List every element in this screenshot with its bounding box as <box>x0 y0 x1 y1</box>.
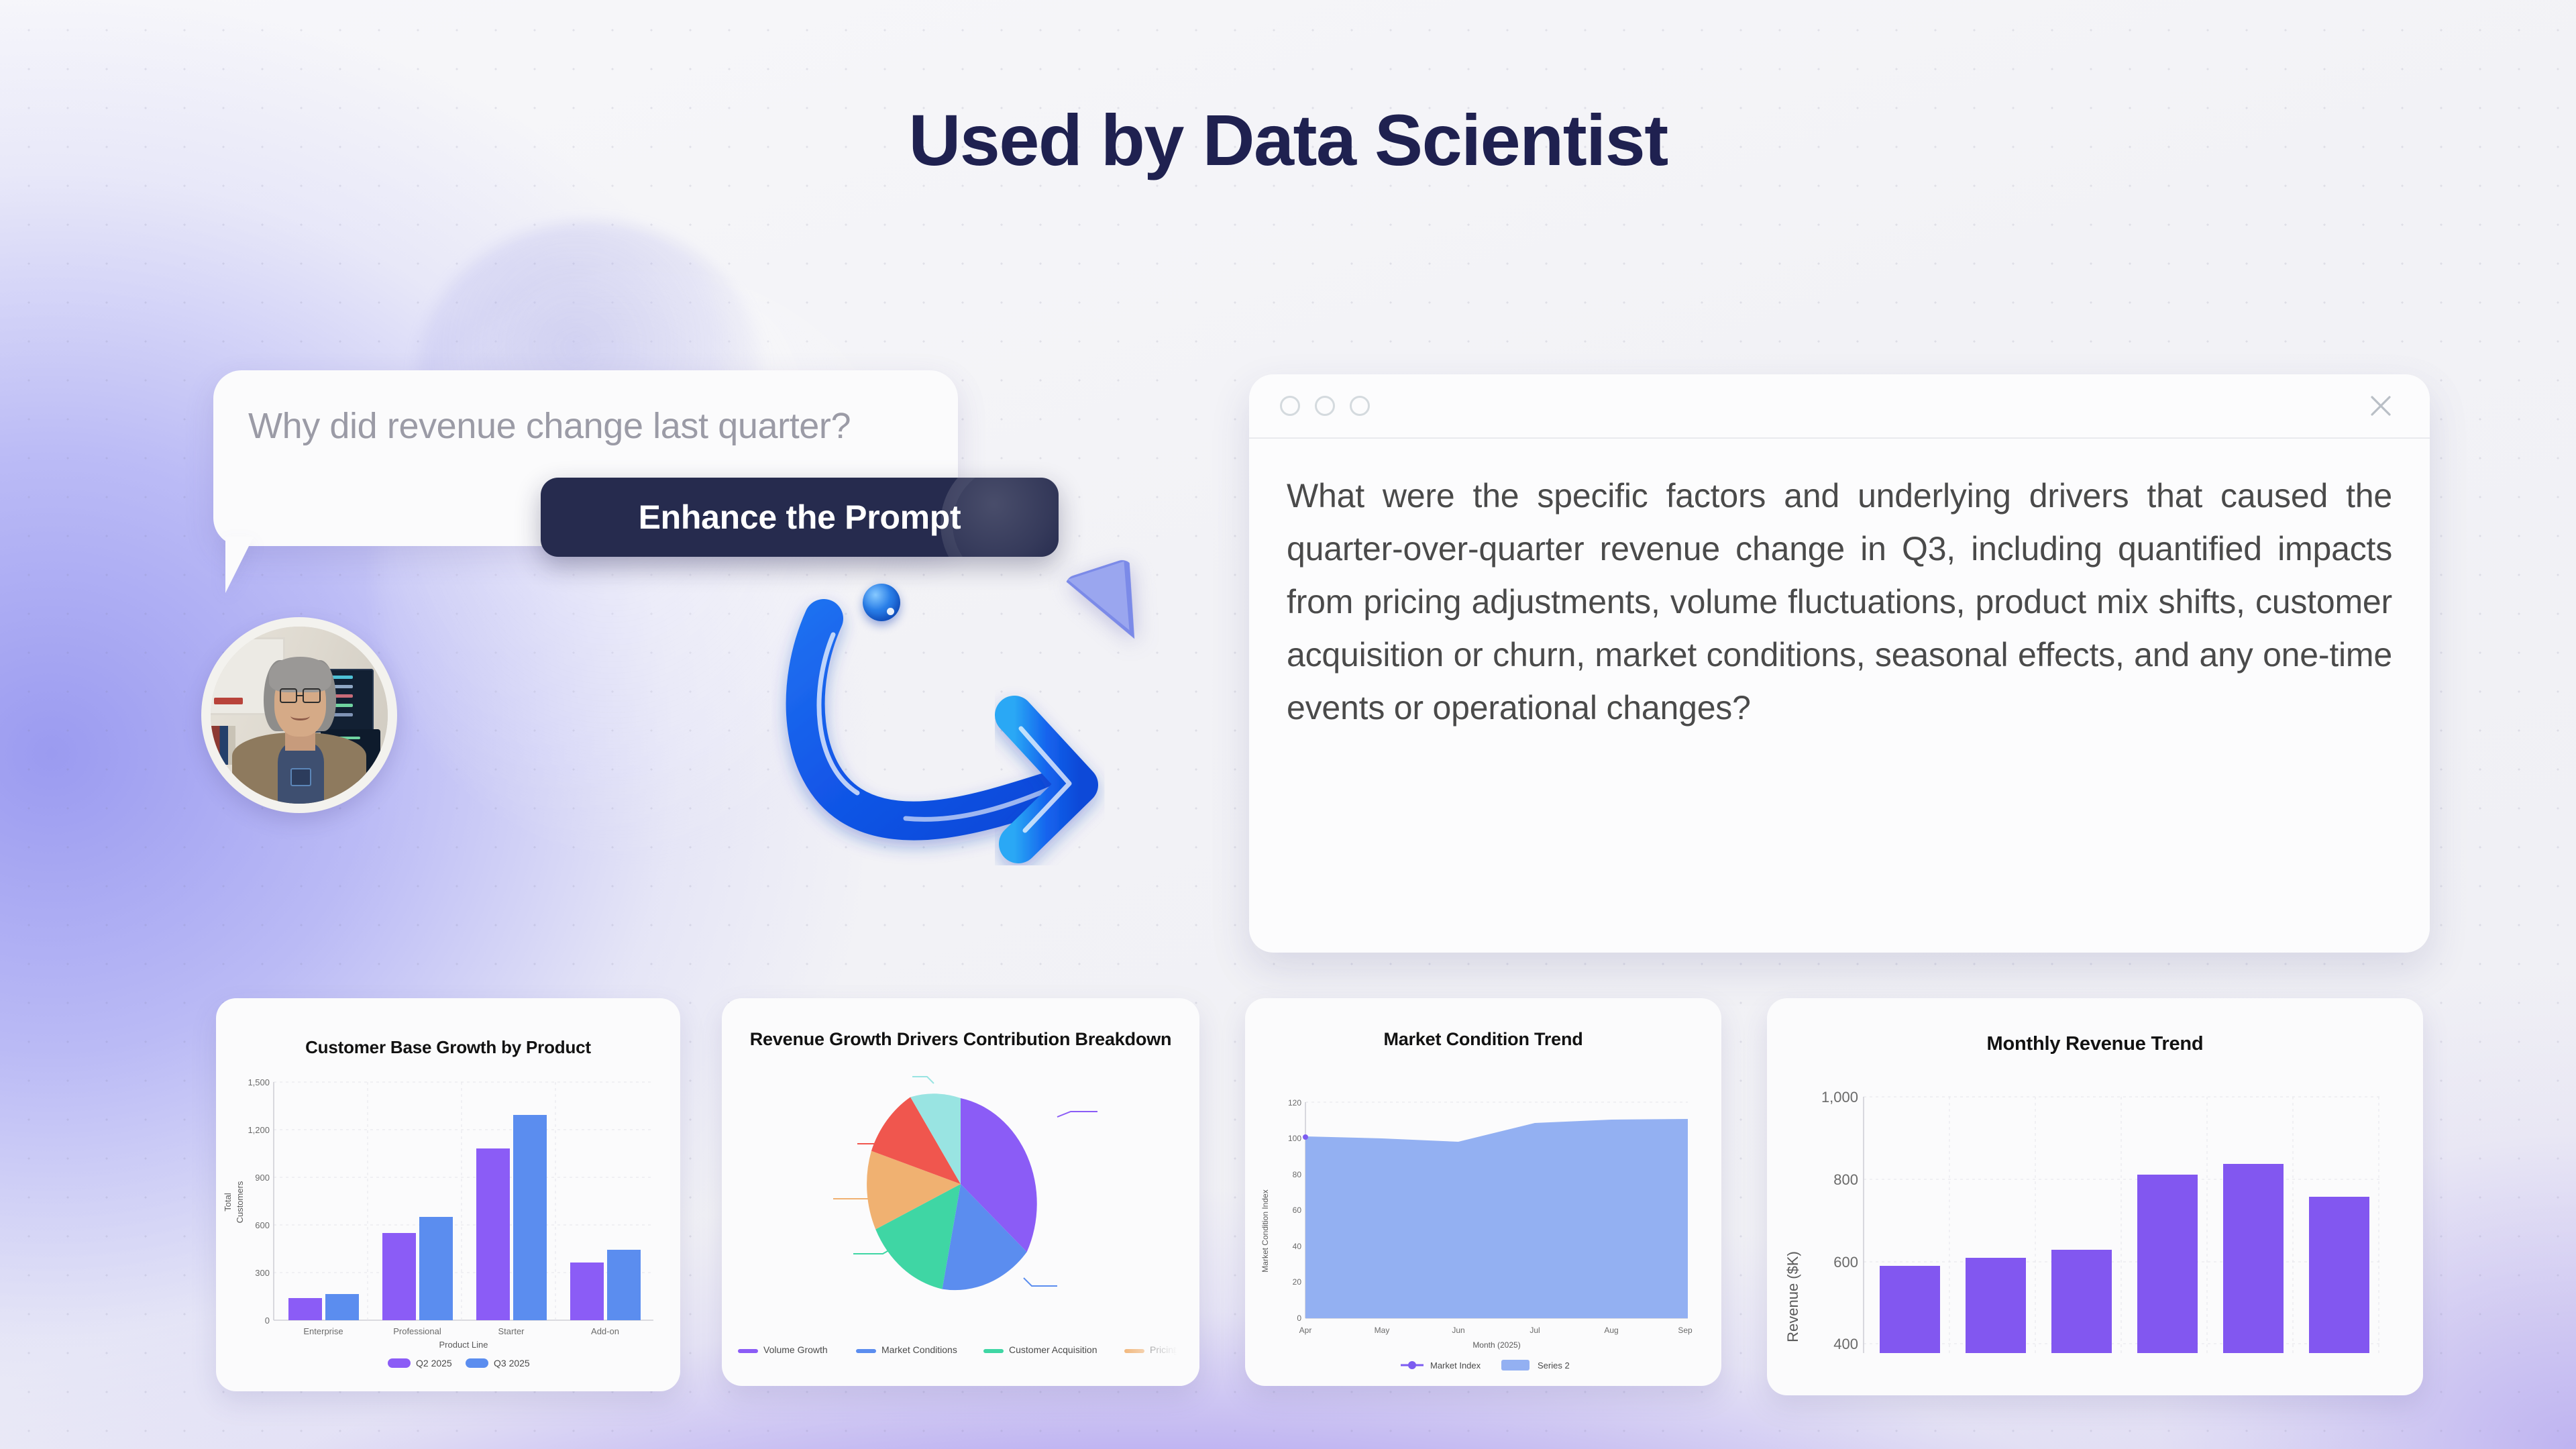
legend-dot-market-index[interactable] <box>1408 1361 1416 1369</box>
bar-month-3 <box>2051 1250 2112 1353</box>
bar-month-2 <box>1966 1258 2026 1353</box>
enhance-the-prompt-button[interactable]: Enhance the Prompt <box>541 478 1059 557</box>
y-tick-80: 80 <box>1293 1170 1302 1179</box>
legend-swatch-market-conditions[interactable] <box>856 1349 876 1353</box>
bar-q2-enterprise <box>288 1298 322 1320</box>
y-tick-900: 900 <box>255 1173 270 1183</box>
close-icon[interactable] <box>2367 392 2395 420</box>
legend-label-q2[interactable]: Q2 2025 <box>416 1358 452 1368</box>
y-tick-0: 0 <box>265 1316 270 1326</box>
curved-arrow-icon <box>771 570 1201 865</box>
legend-swatch-pricing[interactable] <box>1124 1349 1144 1353</box>
pie-slices <box>867 1093 1037 1290</box>
y-tick-600: 600 <box>255 1220 270 1230</box>
y-tick-400: 400 <box>1833 1336 1858 1352</box>
legend-label-series-2[interactable]: Series 2 <box>1538 1360 1570 1371</box>
y-tick-60: 60 <box>1293 1205 1302 1215</box>
x-tick-jul: Jul <box>1529 1326 1540 1335</box>
enhanced-prompt-window: What were the specific factors and under… <box>1249 374 2430 953</box>
y-axis-label-line1: Total <box>223 1193 233 1212</box>
bar-month-1 <box>1880 1266 1940 1353</box>
y-axis-label: Market Condition Index <box>1260 1189 1270 1272</box>
x-tick-aug: Aug <box>1604 1326 1618 1335</box>
decorative-arrow-graphic <box>771 570 1201 865</box>
y-tick-100: 100 <box>1288 1134 1301 1143</box>
legend-label-q3[interactable]: Q3 2025 <box>494 1358 530 1368</box>
chart-title: Monthly Revenue Trend <box>1767 1033 2423 1055</box>
bar-q2-starter <box>476 1148 510 1320</box>
chart-card-revenue-growth-drivers[interactable]: Revenue Growth Drivers Contribution Brea… <box>722 998 1199 1386</box>
y-tick-40: 40 <box>1293 1242 1302 1251</box>
bar-group-professional <box>382 1217 453 1320</box>
traffic-light-controls[interactable] <box>1280 396 1370 416</box>
x-tick-professional: Professional <box>393 1326 441 1336</box>
chart-card-customer-base-growth[interactable]: Customer Base Growth by Product Total Cu… <box>216 998 680 1391</box>
revenue-growth-drivers-chart: Volume Growth Market Conditions Customer… <box>722 1050 1199 1379</box>
page-title: Used by Data Scientist <box>0 101 2576 180</box>
maximize-circle-icon[interactable] <box>1315 396 1335 416</box>
prompt-body: What were the specific factors and under… <box>1249 439 2430 735</box>
chart-title: Revenue Growth Drivers Contribution Brea… <box>722 1029 1199 1050</box>
bar-group-starter <box>476 1115 547 1320</box>
y-tick-20: 20 <box>1293 1277 1302 1287</box>
market-condition-trend-chart: Market Condition Index 120 100 80 60 40 … <box>1245 1050 1721 1381</box>
bar-q3-starter <box>513 1115 547 1320</box>
x-axis-label: Month (2025) <box>1472 1340 1520 1350</box>
legend-label-customer-acquisition[interactable]: Customer Acquisition <box>1009 1344 1097 1355</box>
x-tick-apr: Apr <box>1299 1326 1312 1335</box>
chart-card-monthly-revenue-trend[interactable]: Monthly Revenue Trend Revenue ($K) 1,000… <box>1767 998 2423 1395</box>
bar-month-5 <box>2223 1164 2284 1353</box>
avatar <box>201 617 397 813</box>
speech-bubble-tail <box>225 537 254 593</box>
y-tick-300: 300 <box>255 1268 270 1278</box>
y-tick-1200: 1,200 <box>248 1125 270 1135</box>
x-axis-label: Product Line <box>439 1340 488 1350</box>
bar-month-6 <box>2309 1197 2369 1353</box>
y-tick-1000: 1,000 <box>1821 1089 1858 1106</box>
avatar-photo <box>211 627 388 804</box>
chart-title: Market Condition Trend <box>1245 1029 1721 1050</box>
y-axis-label-line2: Customers <box>235 1181 245 1223</box>
chart-legend[interactable]: Market Index Series 2 <box>1401 1360 1570 1371</box>
minimize-circle-icon[interactable] <box>1280 396 1300 416</box>
legend-swatch-customer-acquisition[interactable] <box>983 1349 1004 1353</box>
legend-label-market-index[interactable]: Market Index <box>1430 1360 1481 1371</box>
bar-group-addon <box>570 1250 641 1320</box>
bar-q3-addon <box>607 1250 641 1320</box>
legend-label-market-conditions[interactable]: Market Conditions <box>881 1344 957 1355</box>
y-tick-1500: 1,500 <box>248 1077 270 1087</box>
legend-swatch-volume-growth[interactable] <box>738 1349 758 1353</box>
bar-q3-professional <box>419 1217 453 1320</box>
x-tick-jun: Jun <box>1452 1326 1464 1335</box>
market-index-point-apr <box>1303 1134 1308 1140</box>
chart-legend[interactable]: Volume Growth Market Conditions Customer… <box>738 1344 1185 1355</box>
legend-swatch-q2[interactable] <box>388 1358 411 1368</box>
legend-swatch-series-2[interactable] <box>1501 1360 1529 1371</box>
enhanced-prompt-text[interactable]: What were the specific factors and under… <box>1287 470 2392 735</box>
chart-card-market-condition-trend[interactable]: Market Condition Trend Market Condition … <box>1245 998 1721 1386</box>
y-tick-600: 600 <box>1833 1254 1858 1271</box>
y-tick-800: 800 <box>1833 1171 1858 1188</box>
chart-title: Customer Base Growth by Product <box>216 1037 680 1058</box>
chart-legend[interactable]: Q2 2025 Q3 2025 <box>388 1358 530 1368</box>
monthly-revenue-trend-chart: Revenue ($K) 1,000 800 600 400 <box>1767 1055 2423 1391</box>
customer-base-growth-chart: Total Customers 1,500 1,200 900 600 300 … <box>216 1058 680 1373</box>
x-tick-sep: Sep <box>1678 1326 1693 1335</box>
y-axis-label: Revenue ($K) <box>1784 1251 1801 1342</box>
prompt-question-text[interactable]: Why did revenue change last quarter? <box>248 405 851 447</box>
window-titlebar <box>1249 374 2430 439</box>
bar-q2-addon <box>570 1263 604 1320</box>
bar-month-4 <box>2137 1175 2198 1353</box>
x-tick-enterprise: Enterprise <box>303 1326 343 1336</box>
bar-q2-professional <box>382 1233 416 1320</box>
legend-swatch-q3[interactable] <box>466 1358 488 1368</box>
legend-label-volume-growth[interactable]: Volume Growth <box>763 1344 828 1355</box>
x-tick-starter: Starter <box>498 1326 525 1336</box>
fullscreen-circle-icon[interactable] <box>1350 396 1370 416</box>
x-tick-may: May <box>1375 1326 1390 1335</box>
legend-pagination[interactable]: 1/2 <box>1173 1345 1185 1355</box>
bar-q3-enterprise <box>325 1294 359 1320</box>
x-tick-addon: Add-on <box>591 1326 619 1336</box>
y-tick-120: 120 <box>1288 1098 1301 1108</box>
bar-group-enterprise <box>288 1294 359 1320</box>
y-tick-0: 0 <box>1297 1313 1301 1323</box>
area-series-2 <box>1305 1120 1688 1318</box>
